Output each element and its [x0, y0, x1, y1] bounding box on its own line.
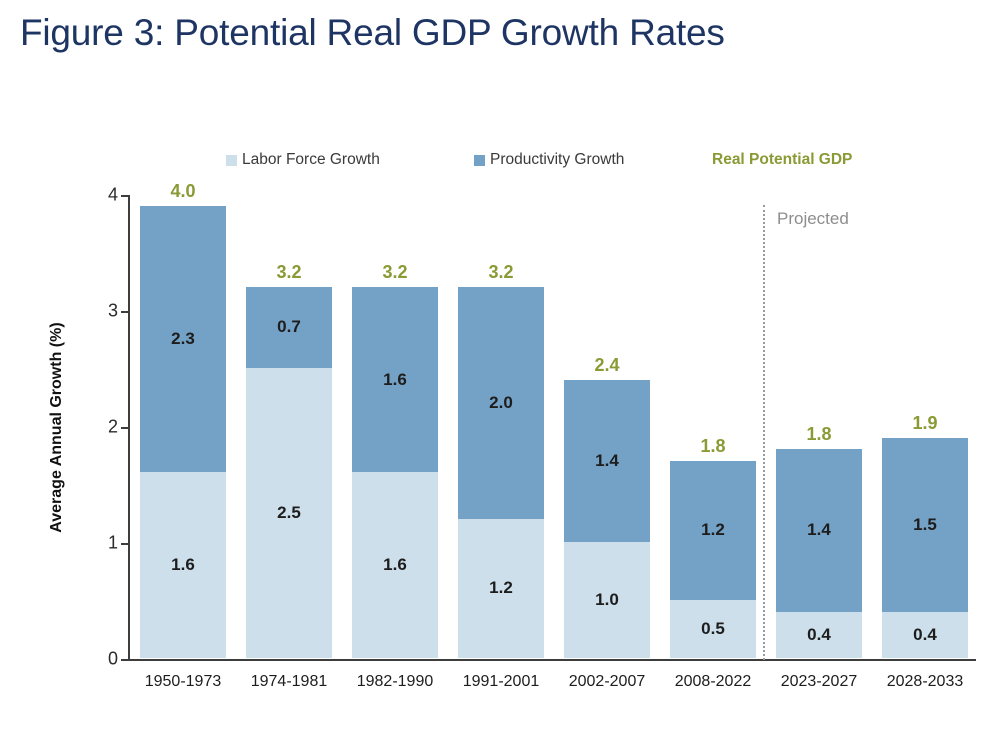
- bar-segment-value: 1.2: [489, 578, 513, 598]
- bar-segment-value: 0.4: [807, 625, 831, 645]
- bar-segment-productivity[interactable]: 2.0: [458, 287, 544, 519]
- y-axis-title: Average Annual Growth (%): [46, 195, 68, 660]
- bar-stack: 0.72.53.2: [246, 287, 332, 658]
- y-tick-label: 2: [108, 417, 118, 438]
- x-tick-label: 2002-2007: [555, 673, 659, 691]
- bar-stack: 1.41.02.4: [564, 380, 650, 658]
- bar-segment-value: 2.5: [277, 503, 301, 523]
- x-tick-label: 1950-1973: [131, 673, 235, 691]
- bar-segment-labor-force[interactable]: 1.2: [458, 519, 544, 658]
- y-tick-label: 4: [108, 185, 118, 206]
- bar-segment-labor-force[interactable]: 0.5: [670, 600, 756, 658]
- bar-segment-value: 2.3: [171, 329, 195, 349]
- bar-segment-productivity[interactable]: 1.6: [352, 287, 438, 473]
- bar-segment-value: 0.4: [913, 625, 937, 645]
- bar-stack: 1.20.51.8: [670, 461, 756, 658]
- bar-stack: 2.31.64.0: [140, 206, 226, 658]
- y-tick-mark: [121, 195, 128, 197]
- bar-total-label: 3.2: [458, 262, 544, 283]
- bar-group[interactable]: 1.20.51.8: [670, 461, 756, 658]
- bar-segment-value: 1.0: [595, 590, 619, 610]
- bar-total-label: 3.2: [246, 262, 332, 283]
- bar-stack: 1.61.63.2: [352, 287, 438, 658]
- projection-divider-line: [763, 205, 765, 660]
- x-tick-label: 1991-2001: [449, 673, 553, 691]
- bar-segment-value: 0.5: [701, 619, 725, 639]
- projected-annotation-label: Projected: [777, 209, 849, 229]
- x-tick-label: 1982-1990: [343, 673, 447, 691]
- x-tick-label: 2028-2033: [873, 673, 977, 691]
- y-tick-label: 3: [108, 301, 118, 322]
- legend-item-2[interactable]: Real Potential GDP: [712, 150, 852, 170]
- bar-segment-value: 0.7: [277, 317, 301, 337]
- x-tick-label: 2023-2027: [767, 673, 871, 691]
- x-tick-label: 2008-2022: [661, 673, 765, 691]
- bar-total-label: 1.8: [670, 436, 756, 457]
- bar-segment-labor-force[interactable]: 0.4: [882, 612, 968, 658]
- bar-segment-value: 1.6: [383, 555, 407, 575]
- page-title: Figure 3: Potential Real GDP Growth Rate…: [20, 12, 725, 54]
- legend-item-label: Real Potential GDP: [712, 151, 852, 169]
- bar-segment-productivity[interactable]: 0.7: [246, 287, 332, 368]
- bar-group[interactable]: 1.41.02.4: [564, 380, 650, 658]
- bar-segment-productivity[interactable]: 1.2: [670, 461, 756, 600]
- bar-group[interactable]: 1.50.41.9: [882, 438, 968, 658]
- y-axis-line: [128, 195, 130, 661]
- legend-item-1[interactable]: Productivity Growth: [474, 150, 624, 170]
- y-tick-mark: [121, 659, 128, 661]
- bar-group[interactable]: 0.72.53.2: [246, 287, 332, 658]
- bar-segment-value: 1.6: [383, 370, 407, 390]
- legend-item-0[interactable]: Labor Force Growth: [226, 150, 380, 170]
- bar-segment-labor-force[interactable]: 2.5: [246, 368, 332, 658]
- y-tick-mark: [121, 427, 128, 429]
- bar-segment-labor-force[interactable]: 1.6: [352, 472, 438, 658]
- bar-stack: 1.40.41.8: [776, 449, 862, 658]
- bar-group[interactable]: 1.40.41.8: [776, 449, 862, 658]
- bar-group[interactable]: 2.01.23.2: [458, 287, 544, 658]
- bar-total-label: 4.0: [140, 181, 226, 202]
- bar-segment-productivity[interactable]: 1.4: [564, 380, 650, 542]
- bar-segment-labor-force[interactable]: 1.0: [564, 542, 650, 658]
- bar-segment-productivity[interactable]: 2.3: [140, 206, 226, 473]
- bar-segment-value: 1.4: [807, 520, 831, 540]
- x-axis-line: [128, 659, 976, 661]
- bar-total-label: 1.8: [776, 424, 862, 445]
- bar-segment-productivity[interactable]: 1.4: [776, 449, 862, 611]
- bar-segment-value: 1.6: [171, 555, 195, 575]
- y-tick-mark: [121, 543, 128, 545]
- bar-total-label: 2.4: [564, 355, 650, 376]
- bar-segment-productivity[interactable]: 1.5: [882, 438, 968, 612]
- y-tick-label: 1: [108, 533, 118, 554]
- bar-segment-value: 1.5: [913, 515, 937, 535]
- y-tick-label: 0: [108, 649, 118, 670]
- legend-item-label: Productivity Growth: [490, 151, 624, 169]
- bar-stack: 1.50.41.9: [882, 438, 968, 658]
- y-tick-mark: [121, 311, 128, 313]
- legend-swatch-icon: [474, 155, 485, 166]
- bar-group[interactable]: 2.31.64.0: [140, 206, 226, 658]
- bar-total-label: 1.9: [882, 413, 968, 434]
- bar-stack: 2.01.23.2: [458, 287, 544, 658]
- chart-legend: Labor Force GrowthProductivity GrowthRea…: [226, 150, 886, 170]
- bar-group[interactable]: 1.61.63.2: [352, 287, 438, 658]
- x-tick-label: 1974-1981: [237, 673, 341, 691]
- bar-segment-value: 1.2: [701, 520, 725, 540]
- bar-segment-value: 2.0: [489, 393, 513, 413]
- bar-segment-labor-force[interactable]: 1.6: [140, 472, 226, 658]
- plot-area: 01234 2.31.64.00.72.53.21.61.63.22.01.23…: [128, 195, 976, 660]
- bar-segment-value: 1.4: [595, 451, 619, 471]
- legend-item-label: Labor Force Growth: [242, 151, 380, 169]
- bar-segment-labor-force[interactable]: 0.4: [776, 612, 862, 658]
- bar-total-label: 3.2: [352, 262, 438, 283]
- legend-swatch-icon: [226, 155, 237, 166]
